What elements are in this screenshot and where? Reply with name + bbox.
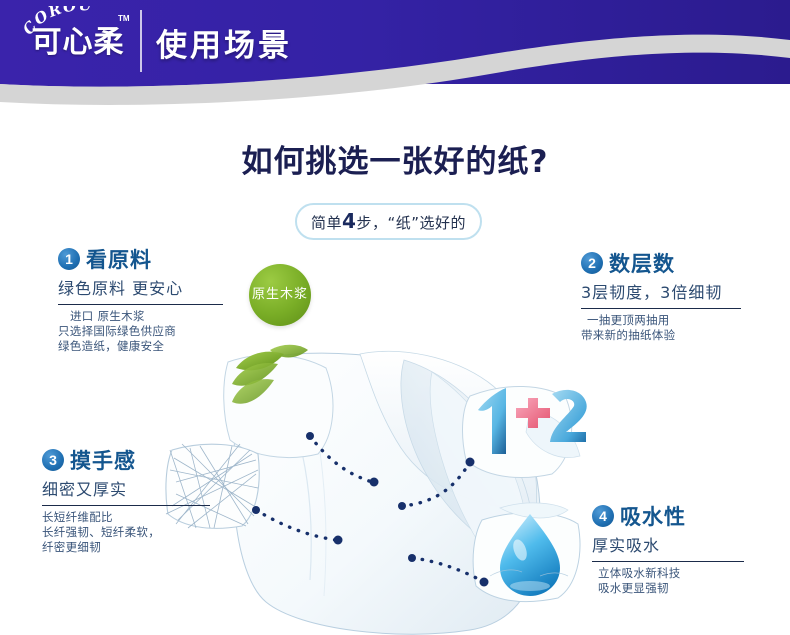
step-1-title: 看原料 [86,244,152,274]
header-title: 使用场景 [156,20,292,65]
step-2-detail-line-1: 一抽更顶两抽用 [581,313,741,328]
step-3-block: 3 摸手感 细密又厚实 长短纤维配比 长纤强韧、短纤柔软， 纤密更细韧 [42,447,210,555]
step-4-rule [592,561,744,562]
step-3-detail-line-1: 长短纤维配比 [42,510,210,525]
step-1-detail-line-3: 绿色造纸，健康安全 [58,339,223,354]
step-3-rule [42,505,210,506]
product-infographic-page: COROU TM 可心柔 使用场景 如何挑选一张好的纸? 简单4步，“纸”选好的 [0,0,790,635]
step-3-details: 长短纤维配比 长纤强韧、短纤柔软， 纤密更细韧 [42,510,210,555]
step-4-number: 4 [592,505,614,527]
step-1-subtitle: 绿色原料 更安心 [58,275,223,299]
step-1-detail-line-1: 进口 原生木浆 [58,309,223,324]
layers-graphic [463,386,587,477]
step-2-header: 2 数层数 [581,250,741,276]
step-2-title: 数层数 [609,248,675,278]
step-2-block: 2 数层数 3层韧度，3倍细韧 一抽更顶两抽用 带来新的抽纸体验 [581,250,741,343]
step-4-details: 立体吸水新科技 吸水更显强韧 [592,566,744,596]
step-1-detail-line-2: 只选择国际绿色供应商 [58,324,223,339]
step-3-subtitle: 细密又厚实 [42,476,210,500]
step-4-detail-line-2: 吸水更显强韧 [592,581,744,596]
step-1-details: 进口 原生木浆 只选择国际绿色供应商 绿色造纸，健康安全 [58,309,223,354]
step-4-detail-line-1: 立体吸水新科技 [592,566,744,581]
step-2-detail-line-2: 带来新的抽纸体验 [581,328,741,343]
logo-chinese-text: 可心柔 [23,28,133,58]
step-3-detail-line-3: 纤密更细韧 [42,540,210,555]
step-3-detail-line-2: 长纤强韧、短纤柔软， [42,525,210,540]
step-1-number: 1 [58,248,80,270]
trademark-mark: TM [118,14,130,23]
step-2-details: 一抽更顶两抽用 带来新的抽纸体验 [581,313,741,343]
step-2-number: 2 [581,252,603,274]
raw-material-badge: 原生木浆 [249,264,311,326]
step-2-rule [581,308,741,309]
step-4-block: 4 吸水性 厚实吸水 立体吸水新科技 吸水更显强韧 [592,503,744,596]
step-3-title: 摸手感 [70,445,136,475]
step-4-title: 吸水性 [620,501,686,531]
step-2-subtitle: 3层韧度，3倍细韧 [581,279,741,303]
page-header: COROU TM 可心柔 使用场景 [0,0,790,110]
step-3-header: 3 摸手感 [42,447,210,473]
step-1-block: 1 看原料 绿色原料 更安心 进口 原生木浆 只选择国际绿色供应商 绿色造纸，健… [58,246,223,354]
absorbency-graphic [473,503,580,602]
brand-logo: COROU TM 可心柔 [22,6,134,76]
step-3-number: 3 [42,449,64,471]
step-1-rule [58,304,223,305]
step-4-subtitle: 厚实吸水 [592,532,744,556]
header-divider [140,10,142,72]
step-4-header: 4 吸水性 [592,503,744,529]
step-1-header: 1 看原料 [58,246,223,272]
